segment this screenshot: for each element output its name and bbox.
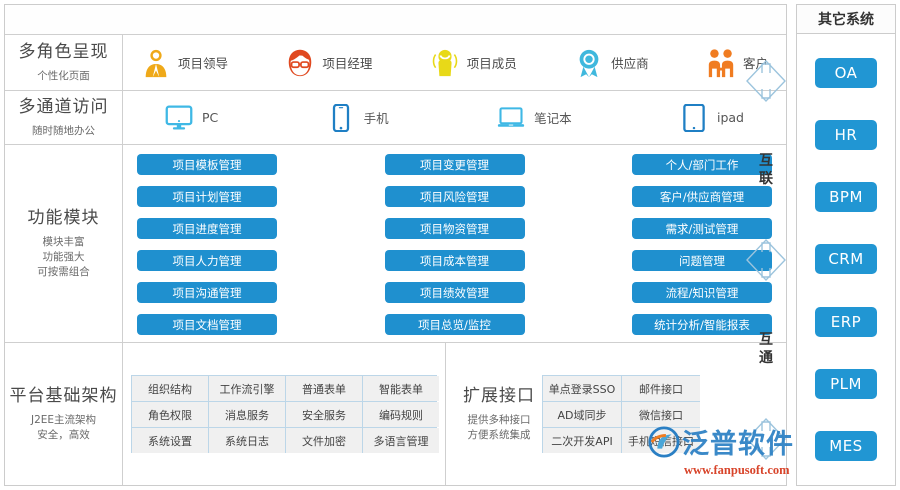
architecture-body: 组织结构 工作流引擎 普通表单 智能表单 角色权限 消息服务 安全服务 编码规则…: [123, 343, 445, 485]
module-button[interactable]: 项目物资管理: [385, 218, 525, 239]
channels-title: 多通道访问: [19, 96, 109, 119]
architecture-cell[interactable]: 组织结构: [132, 376, 208, 401]
module-button[interactable]: 流程/知识管理: [632, 282, 772, 303]
architecture-cell[interactable]: 编码规则: [363, 402, 439, 427]
roles-list: 项目领导 项目: [123, 48, 786, 78]
architecture-grid: 组织结构 工作流引擎 普通表单 智能表单 角色权限 消息服务 安全服务 编码规则…: [131, 375, 437, 453]
roles-subtitle: 个性化页面: [37, 69, 90, 84]
smartphone-icon: [327, 104, 355, 132]
channels-subtitle: 随时随地办公: [32, 124, 95, 139]
channel-item-pc[interactable]: PC: [165, 104, 218, 132]
section-modules: 功能模块 模块丰富 功能强大 可按需组合 项目模板管理 项目计划管理 项目进度管…: [5, 145, 786, 343]
modules-body: 项目模板管理 项目计划管理 项目进度管理 项目人力管理 项目沟通管理 项目文档管…: [123, 145, 786, 342]
extension-grid: 单点登录SSO 邮件接口 AD域同步 微信接口 二次开发API 手机短信接口: [542, 375, 700, 453]
infographic-page: 多角色呈现 个性化页面 项目领导: [0, 0, 900, 490]
two-people-icon: [706, 48, 736, 78]
module-button[interactable]: 客户/供应商管理: [632, 186, 772, 207]
architecture-cell[interactable]: 智能表单: [363, 376, 439, 401]
section-architecture: 平台基础架构 J2EE主流架构 安全，高效 组织结构 工作流引擎 普通表单 智能…: [5, 343, 446, 485]
module-button[interactable]: 项目风险管理: [385, 186, 525, 207]
architecture-cell[interactable]: 系统设置: [132, 428, 208, 453]
module-button[interactable]: 项目人力管理: [137, 250, 277, 271]
tablet-icon: [680, 104, 708, 132]
sidebar-item-erp[interactable]: ERP: [815, 307, 877, 337]
modules-column-1: 项目模板管理 项目计划管理 项目进度管理 项目人力管理 项目沟通管理 项目文档管…: [137, 154, 277, 335]
extension-cell[interactable]: 单点登录SSO: [543, 376, 621, 401]
modules-subtitle-line: 模块丰富: [37, 235, 90, 250]
channels-body: PC 手机: [123, 91, 786, 144]
architecture-subtitle-line: J2EE主流架构: [31, 413, 96, 428]
sidebar-item-plm[interactable]: PLM: [815, 369, 877, 399]
architecture-cell[interactable]: 消息服务: [209, 402, 285, 427]
role-label: 供应商: [611, 53, 649, 72]
extension-cell[interactable]: 微信接口: [622, 402, 700, 427]
role-item-manager[interactable]: 项目经理: [285, 48, 372, 78]
module-button[interactable]: 项目绩效管理: [385, 282, 525, 303]
architecture-cell[interactable]: 普通表单: [286, 376, 362, 401]
module-button[interactable]: 需求/测试管理: [632, 218, 772, 239]
module-button[interactable]: 项目文档管理: [137, 314, 277, 335]
module-button[interactable]: 项目沟通管理: [137, 282, 277, 303]
extension-subtitle: 提供多种接口 方便系统集成: [468, 413, 531, 443]
role-item-customer[interactable]: 客户: [706, 48, 768, 78]
modules-label-block: 功能模块 模块丰富 功能强大 可按需组合: [5, 145, 123, 342]
module-button[interactable]: 项目变更管理: [385, 154, 525, 175]
section-bottom: 平台基础架构 J2EE主流架构 安全，高效 组织结构 工作流引擎 普通表单 智能…: [5, 343, 786, 485]
extension-subtitle-line: 方便系统集成: [468, 428, 531, 443]
module-button[interactable]: 项目成本管理: [385, 250, 525, 271]
extension-label-block: 扩展接口 提供多种接口 方便系统集成: [446, 385, 542, 443]
architecture-label-block: 平台基础架构 J2EE主流架构 安全，高效: [5, 343, 123, 485]
desktop-monitor-icon: [165, 104, 193, 132]
role-label: 项目领导: [178, 53, 228, 72]
sidebar-list: OA HR BPM CRM ERP PLM MES: [796, 34, 896, 486]
channels-label-block: 多通道访问 随时随地办公: [5, 91, 123, 144]
person-cheer-icon: [430, 48, 460, 78]
sidebar-item-oa[interactable]: OA: [815, 58, 877, 88]
extension-cell[interactable]: 邮件接口: [622, 376, 700, 401]
architecture-cell[interactable]: 角色权限: [132, 402, 208, 427]
roles-title: 多角色呈现: [19, 41, 109, 64]
extension-cell[interactable]: 二次开发API: [543, 428, 621, 453]
channel-label: 手机: [364, 108, 389, 127]
modules-column-2: 项目变更管理 项目风险管理 项目物资管理 项目成本管理 项目绩效管理 项目总览/…: [385, 154, 525, 335]
extension-cell[interactable]: 手机短信接口: [622, 428, 700, 453]
module-button[interactable]: 统计分析/智能报表: [632, 314, 772, 335]
role-item-supplier[interactable]: 供应商: [574, 48, 649, 78]
sidebar-item-bpm[interactable]: BPM: [815, 182, 877, 212]
architecture-cell[interactable]: 多语言管理: [363, 428, 439, 453]
architecture-title: 平台基础架构: [10, 385, 118, 408]
channel-label: 笔记本: [534, 108, 572, 127]
modules-subtitle: 模块丰富 功能强大 可按需组合: [37, 235, 90, 281]
extension-subtitle-line: 提供多种接口: [468, 413, 531, 428]
roles-label-block: 多角色呈现 个性化页面: [5, 35, 123, 91]
module-button[interactable]: 项目模板管理: [137, 154, 277, 175]
laptop-icon: [497, 104, 525, 132]
architecture-subtitle: J2EE主流架构 安全，高效: [31, 413, 96, 443]
sidebar-item-crm[interactable]: CRM: [815, 244, 877, 274]
architecture-cell[interactable]: 工作流引擎: [209, 376, 285, 401]
architecture-cell[interactable]: 文件加密: [286, 428, 362, 453]
channel-label: PC: [202, 110, 218, 125]
module-button[interactable]: 项目计划管理: [137, 186, 277, 207]
module-button[interactable]: 个人/部门工作: [632, 154, 772, 175]
person-tie-icon: [141, 48, 171, 78]
extension-title: 扩展接口: [463, 385, 535, 408]
channel-item-phone[interactable]: 手机: [327, 104, 389, 132]
module-button[interactable]: 项目总览/监控: [385, 314, 525, 335]
architecture-cell[interactable]: 系统日志: [209, 428, 285, 453]
sidebar-item-hr[interactable]: HR: [815, 120, 877, 150]
module-button[interactable]: 问题管理: [632, 250, 772, 271]
face-glasses-icon: [285, 48, 315, 78]
roles-body: 项目领导 项目: [123, 35, 786, 90]
module-button[interactable]: 项目进度管理: [137, 218, 277, 239]
role-label: 项目成员: [467, 53, 517, 72]
other-systems-sidebar: 其它系统 OA HR BPM CRM ERP PLM MES: [796, 4, 896, 486]
architecture-cell[interactable]: 安全服务: [286, 402, 362, 427]
role-label: 客户: [743, 53, 768, 72]
sidebar-header: 其它系统: [796, 4, 896, 34]
channel-label: ipad: [717, 110, 744, 125]
modules-subtitle-line: 功能强大: [37, 250, 90, 265]
section-channels: 多通道访问 随时随地办公 PC: [5, 91, 786, 145]
section-extension: 扩展接口 提供多种接口 方便系统集成 单点登录SSO 邮件接口 AD域同步 微信…: [446, 343, 786, 485]
top-blank-strip: [5, 5, 786, 35]
extension-cell[interactable]: AD域同步: [543, 402, 621, 427]
channel-item-ipad[interactable]: ipad: [680, 104, 744, 132]
modules-title: 功能模块: [28, 207, 100, 230]
modules-column-3: 个人/部门工作 客户/供应商管理 需求/测试管理 问题管理 流程/知识管理 统计…: [632, 154, 772, 335]
architecture-subtitle-line: 安全，高效: [31, 428, 96, 443]
main-panel: 多角色呈现 个性化页面 项目领导: [4, 4, 787, 486]
modules-subtitle-line: 可按需组合: [37, 265, 90, 280]
award-ribbon-icon: [574, 48, 604, 78]
channels-list: PC 手机: [123, 104, 786, 132]
section-roles: 多角色呈现 个性化页面 项目领导: [5, 35, 786, 91]
modules-columns: 项目模板管理 项目计划管理 项目进度管理 项目人力管理 项目沟通管理 项目文档管…: [123, 145, 786, 342]
channel-item-laptop[interactable]: 笔记本: [497, 104, 572, 132]
role-item-leader[interactable]: 项目领导: [141, 48, 228, 78]
role-item-member[interactable]: 项目成员: [430, 48, 517, 78]
role-label: 项目经理: [322, 53, 372, 72]
sidebar-item-mes[interactable]: MES: [815, 431, 877, 461]
